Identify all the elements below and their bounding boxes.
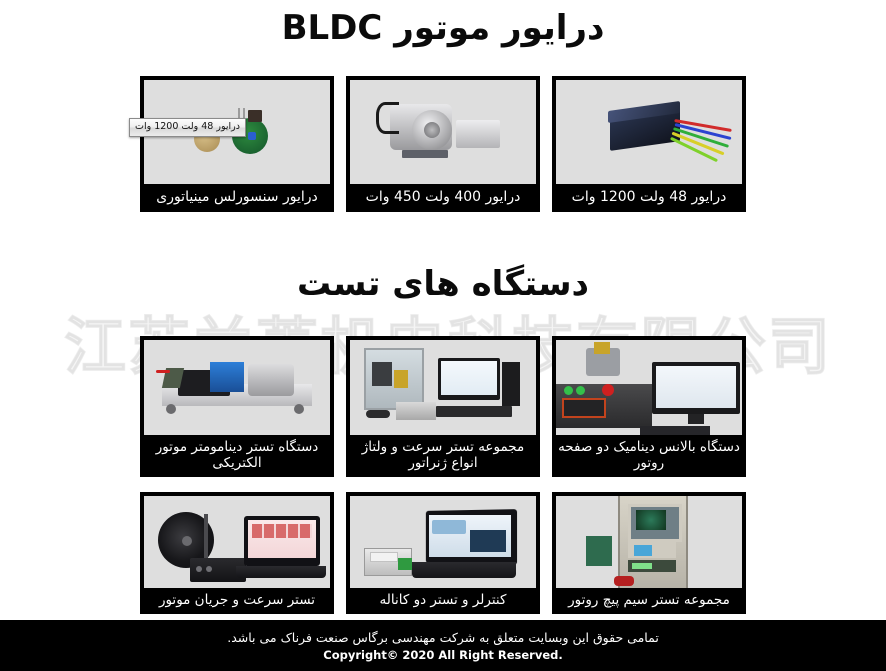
- product-card[interactable]: کنترلر و تستر دو کاناله: [346, 492, 540, 614]
- page-root: 江苏兰菱机电科技有限公司 درایور موتور BLDC درایور 48…: [0, 0, 886, 671]
- site-footer: تمامی حقوق این وبسایت متعلق به شرکت مهند…: [0, 620, 886, 671]
- product-caption: دستگاه بالانس دینامیک دو صفحه روتور: [553, 435, 745, 476]
- product-caption: تستر سرعت و جریان موتور: [141, 588, 333, 613]
- product-card[interactable]: درایور 48 ولت 1200 وات: [552, 76, 746, 212]
- product-card[interactable]: درایور سنسورلس مینیاتوری: [140, 76, 334, 212]
- product-caption: درایور 48 ولت 1200 وات: [553, 184, 745, 211]
- product-card[interactable]: درایور 400 ولت 450 وات: [346, 76, 540, 212]
- product-image[interactable]: [144, 496, 330, 588]
- product-card[interactable]: دستگاه تستر دینامومتر موتور الکتریکی: [140, 336, 334, 477]
- product-card[interactable]: مجموعه تستر سیم پیچ روتور: [552, 492, 746, 614]
- product-image[interactable]: [556, 496, 742, 588]
- section-title-test-equipment: دستگاه های تست: [0, 264, 886, 304]
- product-image[interactable]: [556, 80, 742, 184]
- footer-copyright-text: Copyright© 2020 All Right Reserved.: [323, 648, 562, 662]
- product-card[interactable]: تستر سرعت و جریان موتور: [140, 492, 334, 614]
- product-image[interactable]: [556, 340, 742, 435]
- product-image[interactable]: [350, 80, 536, 184]
- product-image[interactable]: [144, 340, 330, 435]
- product-image[interactable]: [350, 496, 536, 588]
- product-card[interactable]: مجموعه تستر سرعت و ولتاژ انواع ژنراتور: [346, 336, 540, 477]
- product-card[interactable]: دستگاه بالانس دینامیک دو صفحه روتور: [552, 336, 746, 477]
- product-caption: درایور سنسورلس مینیاتوری: [141, 184, 333, 211]
- section-title-drivers: درایور موتور BLDC: [0, 8, 886, 48]
- product-caption: مجموعه تستر سیم پیچ روتور: [553, 588, 745, 613]
- product-caption: درایور 400 ولت 450 وات: [347, 184, 539, 211]
- product-caption: کنترلر و تستر دو کاناله: [347, 588, 539, 613]
- card-row-test-equipment-1: دستگاه بالانس دینامیک دو صفحه روتور مجمو…: [0, 336, 886, 477]
- product-tooltip: درایور 48 ولت 1200 وات: [129, 118, 246, 137]
- product-caption: مجموعه تستر سرعت و ولتاژ انواع ژنراتور: [347, 435, 539, 476]
- card-row-drivers: درایور 48 ولت 1200 وات درایور 400 ولت 45…: [0, 76, 886, 212]
- footer-rights-text: تمامی حقوق این وبسایت متعلق به شرکت مهند…: [227, 630, 659, 646]
- product-image[interactable]: [350, 340, 536, 435]
- card-row-test-equipment-2: مجموعه تستر سیم پیچ روتور کنترلر و تستر …: [0, 492, 886, 614]
- product-caption: دستگاه تستر دینامومتر موتور الکتریکی: [141, 435, 333, 476]
